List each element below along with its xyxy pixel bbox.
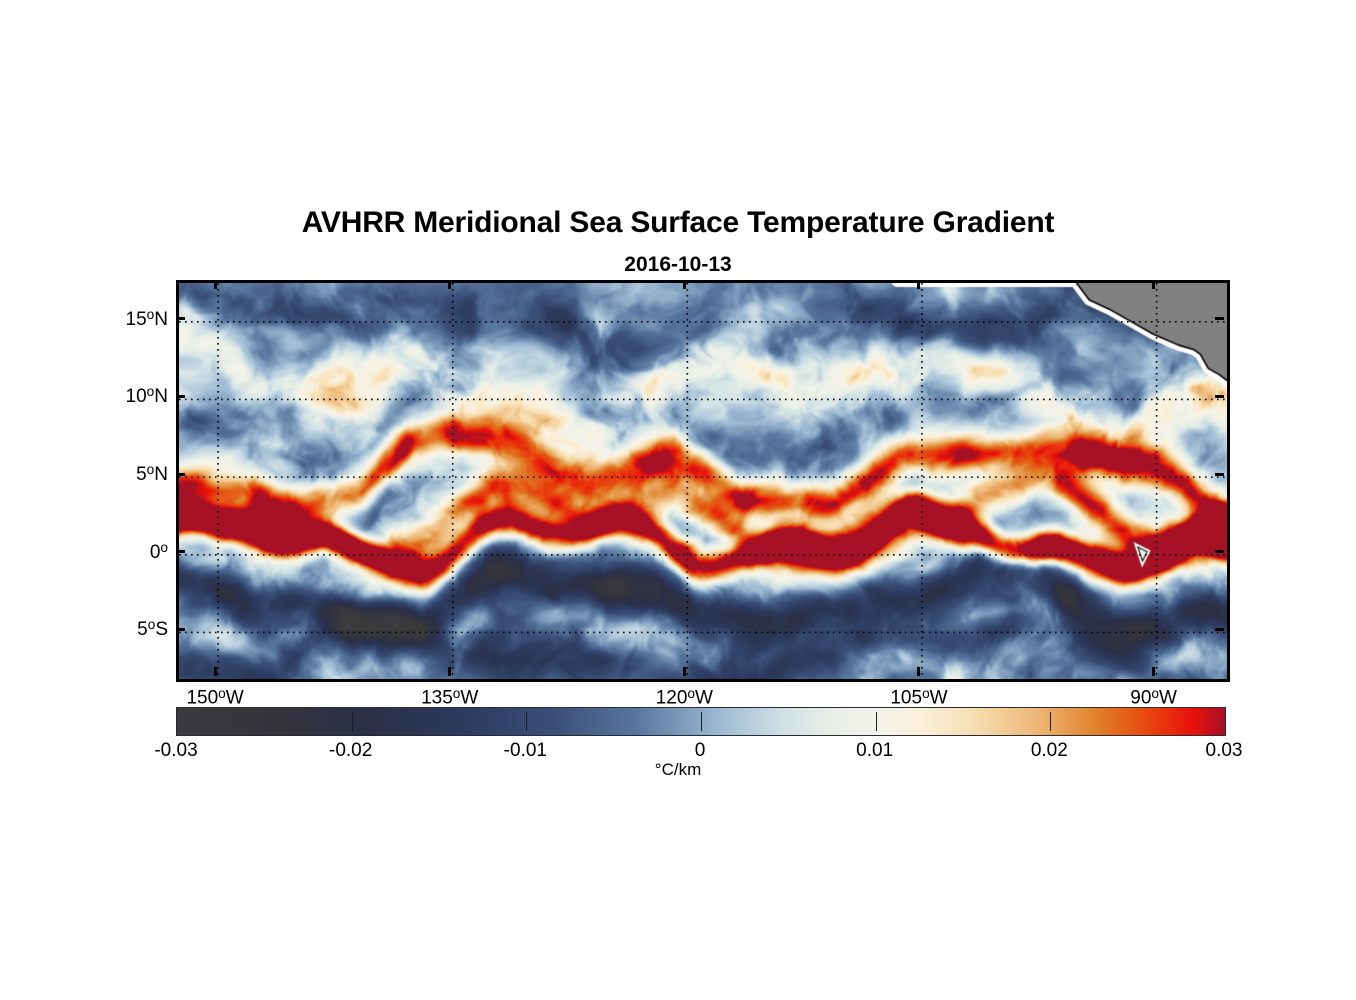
x-tick-mark <box>214 280 217 289</box>
x-tick-mark <box>683 667 686 676</box>
colorbar-tick-label: 0.02 <box>1031 740 1068 762</box>
y-axis-tick-label: 5oS <box>137 618 168 642</box>
x-tick-mark <box>1152 667 1155 676</box>
colorbar-tick-mark <box>876 712 877 731</box>
colorbar-tick-label: 0 <box>695 740 706 762</box>
y-tick-mark <box>1215 317 1224 320</box>
y-tick-mark <box>176 317 185 320</box>
x-tick-mark <box>1152 280 1155 289</box>
colorbar-tick-mark <box>352 712 353 731</box>
sst-gradient-heatmap <box>179 283 1227 679</box>
y-axis-tick-label: 5oN <box>136 462 168 486</box>
figure-date-subtitle: 2016-10-13 <box>0 253 1356 277</box>
x-tick-mark <box>214 667 217 676</box>
colorbar-tick-label: -0.01 <box>504 740 547 762</box>
y-tick-mark <box>1215 395 1224 398</box>
colorbar-tick-mark <box>701 712 702 731</box>
y-tick-mark <box>1215 550 1224 553</box>
x-tick-mark <box>448 667 451 676</box>
y-tick-mark <box>176 550 185 553</box>
x-tick-mark <box>917 280 920 289</box>
y-axis-tick-label: 15oN <box>126 307 168 331</box>
colorbar-tick-mark <box>526 712 527 731</box>
colorbar-tick-label: -0.03 <box>154 740 197 762</box>
map-plot-area <box>176 280 1230 682</box>
colorbar-tick-label: -0.02 <box>329 740 372 762</box>
x-tick-mark <box>917 667 920 676</box>
y-axis-tick-label: 0o <box>150 540 168 564</box>
y-axis-tick-label: 10oN <box>126 385 168 409</box>
colorbar-tick-label: 0.03 <box>1206 740 1243 762</box>
y-tick-mark <box>1215 473 1224 476</box>
y-tick-mark <box>176 395 185 398</box>
y-tick-mark <box>1215 628 1224 631</box>
page-title: AVHRR Meridional Sea Surface Temperature… <box>0 206 1356 240</box>
colorbar-tick-label: 0.01 <box>856 740 893 762</box>
colorbar-tick-mark <box>1050 712 1051 731</box>
x-tick-mark <box>683 280 686 289</box>
x-tick-mark <box>448 280 451 289</box>
y-tick-mark <box>176 628 185 631</box>
colorbar-unit-label: °C/km <box>0 760 1356 780</box>
colorbar <box>176 707 1226 736</box>
y-tick-mark <box>176 473 185 476</box>
figure-canvas: AVHRR Meridional Sea Surface Temperature… <box>0 0 1356 1000</box>
